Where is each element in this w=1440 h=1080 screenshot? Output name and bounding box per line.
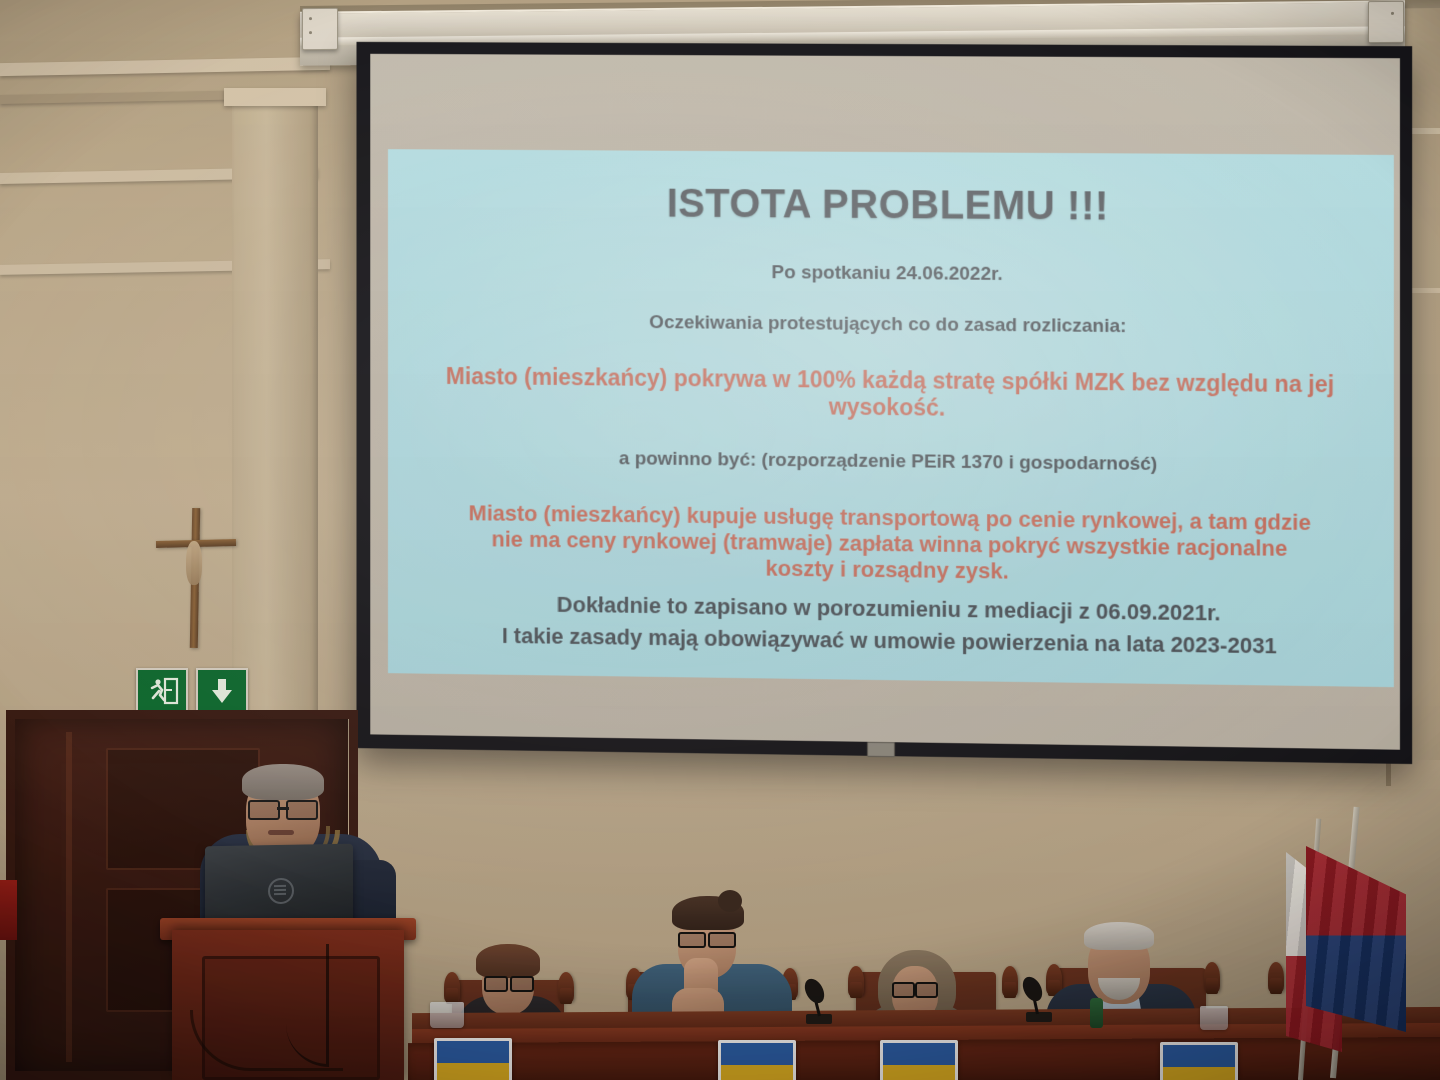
drink-bottle[interactable] (1090, 998, 1103, 1028)
ukraine-flag-placard (1160, 1042, 1238, 1080)
ukraine-flag-placard (880, 1040, 958, 1080)
screen-mount-bracket-right (1368, 1, 1404, 43)
speaker-mouth (268, 830, 294, 835)
wall-pilaster (232, 96, 318, 736)
emergency-exit-running-man-icon (136, 668, 188, 714)
chair-finial (1002, 966, 1018, 996)
screen-pull-handle[interactable] (867, 742, 895, 757)
presentation-slide: ISTOTA PROBLEMU !!! Po spotkaniu 24.06.2… (388, 149, 1394, 687)
slide-title: ISTOTA PROBLEMU !!! (421, 181, 1359, 229)
screen-surface: ISTOTA PROBLEMU !!! Po spotkaniu 24.06.2… (370, 54, 1400, 750)
water-glass[interactable] (430, 1002, 464, 1028)
speaker-glasses-icon (248, 800, 318, 817)
wooden-crucifix (150, 508, 242, 648)
panel-member-hair-bun (718, 890, 742, 912)
panel-member-hair (1084, 922, 1154, 950)
wall-pilaster-capital (224, 88, 326, 106)
ukraine-flag-placard (718, 1040, 796, 1080)
conference-room-photo: ISTOTA PROBLEMU !!! Po spotkaniu 24.06.2… (0, 0, 1440, 1080)
slide-meeting-line: Po spotkaniu 24.06.2022r. (421, 259, 1359, 290)
chair-finial (1268, 962, 1284, 992)
panel-member-hair (476, 944, 540, 978)
screen-mount-bracket-left (302, 8, 338, 50)
emergency-signs-group (136, 668, 248, 712)
red-wall-fixture (0, 880, 17, 940)
ukraine-flag-placard (434, 1038, 512, 1080)
hp-logo-icon (268, 878, 294, 904)
chair-finial (1204, 962, 1220, 992)
projection-screen: ISTOTA PROBLEMU !!! Po spotkaniu 24.06.2… (356, 42, 1412, 764)
slide-expectations-line: Oczekiwania protestujących co do zasad r… (421, 309, 1359, 341)
water-glass[interactable] (1200, 1006, 1228, 1030)
panel-member-glasses-icon (678, 932, 736, 945)
panel-member-glasses-icon (484, 976, 534, 988)
crucifix-figure (186, 541, 202, 585)
speaker-hair (242, 764, 324, 800)
emergency-exit-down-arrow-icon (196, 668, 248, 714)
slide-should-be-line: a powinno być: (rozporządzenie PEiR 1370… (421, 445, 1359, 479)
panel-member-glasses-icon (892, 982, 938, 994)
